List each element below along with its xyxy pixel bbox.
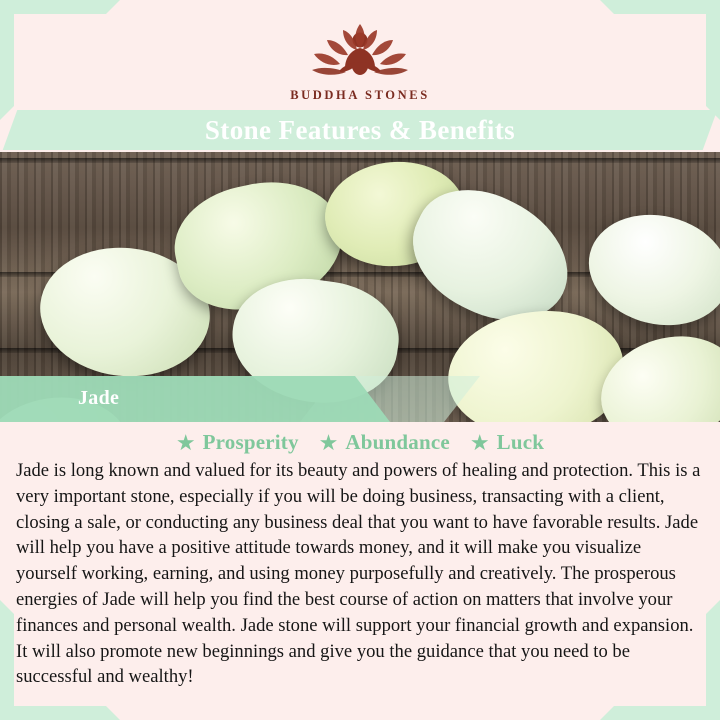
benefit-item: ★ Prosperity bbox=[176, 430, 299, 455]
lotus-meditation-icon bbox=[0, 18, 720, 84]
benefits-row: ★ Prosperity ★ Abundance ★ Luck bbox=[0, 430, 720, 455]
section-title-banner: Stone Features & Benefits bbox=[28, 110, 692, 150]
hero-image: Jade bbox=[0, 152, 720, 422]
page-title: Stone Features & Benefits bbox=[28, 110, 692, 150]
benefit-item: ★ Abundance bbox=[319, 430, 450, 455]
benefit-item: ★ Luck bbox=[470, 430, 544, 455]
brand-name: BUDDHA STONES bbox=[0, 88, 720, 103]
benefit-label: Abundance bbox=[345, 430, 450, 455]
stone-label-banner bbox=[0, 376, 390, 422]
star-icon: ★ bbox=[176, 432, 196, 454]
star-icon: ★ bbox=[319, 432, 339, 454]
description-text: Jade is long known and valued for its be… bbox=[16, 458, 706, 690]
stone-label: Jade bbox=[78, 387, 119, 410]
product-info-card: BUDDHA STONES Stone Features & Benefits … bbox=[0, 0, 720, 720]
benefit-label: Prosperity bbox=[203, 430, 299, 455]
star-icon: ★ bbox=[470, 432, 490, 454]
benefit-label: Luck bbox=[497, 430, 545, 455]
brand-logo: BUDDHA STONES bbox=[0, 18, 720, 103]
